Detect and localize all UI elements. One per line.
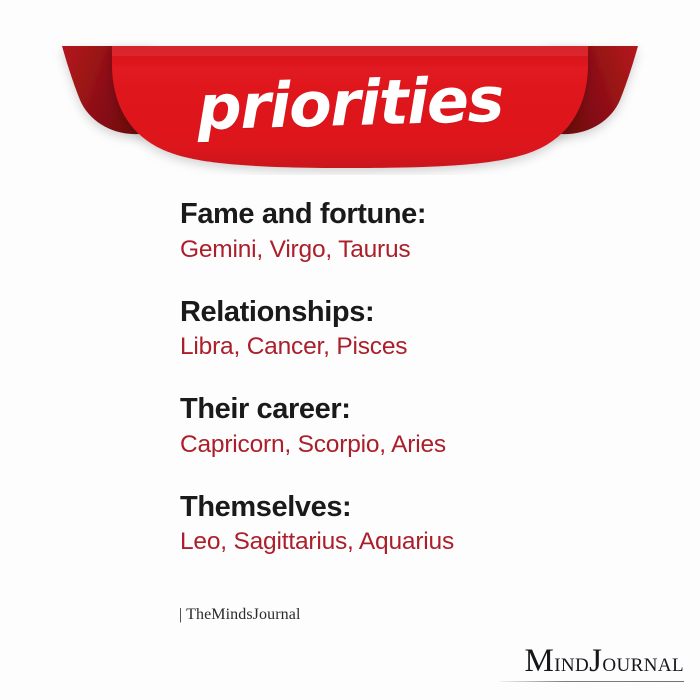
entry-signs: Libra, Cancer, Pisces <box>180 332 620 362</box>
list-item: Relationships: Libra, Cancer, Pisces <box>180 296 620 363</box>
poster-canvas: priorities Fame and fortune: Gemini, Vir… <box>0 0 700 700</box>
entry-title: Their career: <box>180 393 620 427</box>
banner-title: priorities <box>0 30 700 177</box>
entry-title: Themselves: <box>180 491 620 525</box>
banner: priorities <box>0 40 700 175</box>
attribution-credit: | TheMindsJournal <box>179 606 301 624</box>
brand-logo-text: MindJournal <box>474 645 684 678</box>
brand-logo: MindJournal <box>474 645 684 682</box>
logo-word-mind: ind <box>554 647 589 677</box>
entry-signs: Leo, Sagittarius, Aquarius <box>180 527 620 557</box>
list-item: Their career: Capricorn, Scorpio, Aries <box>180 393 620 460</box>
list-item: Fame and fortune: Gemini, Virgo, Taurus <box>180 198 620 265</box>
logo-letter-j: J <box>589 643 602 679</box>
list-item: Themselves: Leo, Sagittarius, Aquarius <box>180 491 620 558</box>
logo-word-journal: ournal <box>602 647 684 677</box>
entry-signs: Gemini, Virgo, Taurus <box>180 235 620 265</box>
entry-signs: Capricorn, Scorpio, Aries <box>180 430 620 460</box>
entry-title: Relationships: <box>180 296 620 330</box>
logo-underline-rule <box>500 681 684 682</box>
priorities-list: Fame and fortune: Gemini, Virgo, Taurus … <box>180 198 620 557</box>
logo-letter-m: M <box>524 643 554 679</box>
entry-title: Fame and fortune: <box>180 198 620 232</box>
